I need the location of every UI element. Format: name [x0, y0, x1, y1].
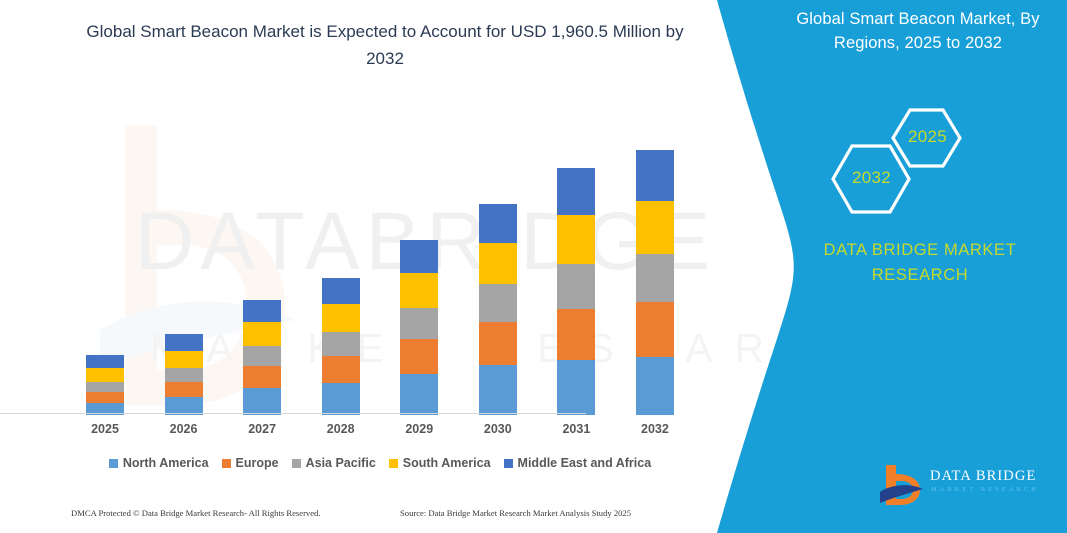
chart-legend: North AmericaEuropeAsia PacificSouth Ame… [70, 456, 690, 470]
legend-item-south-america[interactable]: South America [389, 456, 491, 470]
legend-label: South America [403, 456, 491, 470]
legend-swatch-icon [389, 459, 398, 468]
bar-segment [400, 308, 438, 339]
x-axis-line [0, 413, 586, 414]
bar-segment [557, 215, 595, 264]
brand-line-1: DATA BRIDGE MARKET [824, 241, 1017, 259]
bar-2025 [86, 355, 124, 415]
x-label-2032: 2032 [636, 422, 674, 436]
bar-segment [165, 382, 203, 397]
bar-segment [322, 278, 360, 304]
x-label-2029: 2029 [400, 422, 438, 436]
bar-segment [243, 300, 281, 322]
bar-2032 [636, 150, 674, 415]
bar-segment [479, 243, 517, 284]
legend-swatch-icon [292, 459, 301, 468]
bar-segment [557, 360, 595, 415]
bar-segment [400, 273, 438, 308]
x-label-2025: 2025 [86, 422, 124, 436]
bar-segment [322, 304, 360, 332]
footer-copyright: DMCA Protected © Data Bridge Market Rese… [71, 508, 321, 518]
dbmr-logo-mark-icon [878, 462, 926, 508]
legend-item-north-america[interactable]: North America [109, 456, 209, 470]
legend-item-europe[interactable]: Europe [222, 456, 279, 470]
bar-segment [243, 322, 281, 346]
bar-segment [636, 254, 674, 302]
bar-segment [165, 368, 203, 382]
hex-label-2025: 2025 [908, 127, 946, 147]
x-label-2030: 2030 [479, 422, 517, 436]
bar-segment [557, 264, 595, 309]
bar-2031 [557, 168, 595, 415]
bar-segment [479, 322, 517, 365]
legend-swatch-icon [109, 459, 118, 468]
bar-segment [636, 150, 674, 201]
footer-source: Source: Data Bridge Market Research Mark… [400, 508, 631, 518]
bar-2030 [479, 204, 517, 415]
bar-segment [636, 357, 674, 415]
legend-swatch-icon [222, 459, 231, 468]
brand-line-2: RESEARCH [872, 266, 969, 284]
chart-plot-area [80, 100, 680, 415]
bar-segment [86, 368, 124, 382]
panel-title: Global Smart Beacon Market, By Regions, … [782, 8, 1054, 56]
bar-segment [243, 346, 281, 366]
bar-segment [322, 383, 360, 415]
x-axis-labels: 20252026202720282029203020312032 [80, 422, 680, 436]
bar-segment [400, 374, 438, 415]
legend-item-middle-east-and-africa[interactable]: Middle East and Africa [504, 456, 652, 470]
bar-segment [322, 332, 360, 356]
panel-brand-text: DATA BRIDGE MARKET RESEARCH [790, 238, 1050, 288]
bar-segment [165, 334, 203, 351]
legend-item-asia-pacific[interactable]: Asia Pacific [292, 456, 376, 470]
bar-segment [322, 356, 360, 383]
bar-segment [479, 284, 517, 322]
legend-label: North America [123, 456, 209, 470]
bar-segment [400, 339, 438, 374]
hex-label-2032: 2032 [852, 168, 890, 188]
legend-label: Middle East and Africa [518, 456, 652, 470]
bar-segment [636, 201, 674, 254]
bar-segment [86, 382, 124, 392]
bar-2027 [243, 300, 281, 415]
bar-segment [243, 366, 281, 388]
x-label-2026: 2026 [165, 422, 203, 436]
x-label-2027: 2027 [243, 422, 281, 436]
bar-segment [86, 355, 124, 368]
infographic-canvas: DATABRIDGE MARKET RESEARCH Global Smart … [0, 0, 1067, 533]
dbmr-logo: DATA BRIDGE MARKET RESEARCH [878, 462, 1053, 510]
legend-label: Asia Pacific [306, 456, 376, 470]
bar-segment [479, 204, 517, 243]
dbmr-logo-subtitle: MARKET RESEARCH [931, 486, 1039, 493]
hexagon-outline-icon [810, 100, 1040, 225]
page-title: Global Smart Beacon Market is Expected t… [70, 18, 700, 72]
bar-2026 [165, 334, 203, 415]
bars-container [80, 100, 680, 415]
bar-2029 [400, 240, 438, 415]
bar-segment [479, 365, 517, 415]
bar-segment [557, 309, 595, 360]
hexagon-badges: 2025 2032 [810, 100, 1040, 225]
bar-segment [86, 392, 124, 403]
bar-segment [636, 302, 674, 357]
legend-label: Europe [236, 456, 279, 470]
x-label-2031: 2031 [557, 422, 595, 436]
bar-segment [243, 388, 281, 415]
bar-2028 [322, 278, 360, 415]
bar-segment [400, 240, 438, 273]
x-label-2028: 2028 [322, 422, 360, 436]
bar-segment [165, 351, 203, 368]
bar-segment [557, 168, 595, 215]
legend-swatch-icon [504, 459, 513, 468]
dbmr-logo-title: DATA BRIDGE [930, 468, 1036, 485]
